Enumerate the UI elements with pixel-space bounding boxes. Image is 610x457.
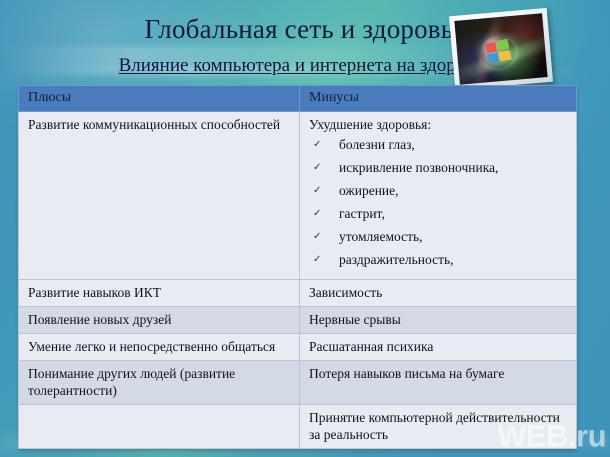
- presentation-slide: Глобальная сеть и здоровье Влияние компь…: [0, 0, 610, 457]
- cell-pros: Развитие навыков ИКТ: [19, 280, 300, 307]
- check-icon: ✓: [313, 229, 321, 245]
- pros-cons-table-container: Плюсы Минусы Развитие коммуникационных с…: [18, 85, 576, 449]
- pros-cons-table: Плюсы Минусы Развитие коммуникационных с…: [18, 85, 577, 449]
- list-item-label: болезни глаз,: [339, 137, 415, 152]
- check-icon: ✓: [313, 206, 321, 222]
- list-item-label: утомляемость,: [339, 229, 423, 244]
- cell-cons: Расшатанная психика: [300, 334, 577, 361]
- cell-pros: Появление новых друзей: [19, 307, 300, 334]
- check-icon: ✓: [313, 160, 321, 176]
- slide-subtitle: Влияние компьютера и интернета на здоров…: [119, 54, 492, 78]
- windows-flag-icon: [486, 39, 512, 63]
- check-icon: ✓: [313, 137, 321, 153]
- table-row: Развитие коммуникационных способностей У…: [19, 112, 577, 280]
- cell-cons: Принятие компьютерной действительности з…: [300, 405, 577, 449]
- cell-cons: Нервные срывы: [300, 307, 577, 334]
- list-item-label: гастрит,: [339, 206, 385, 221]
- table-row: Развитие навыков ИКТ Зависимость: [19, 280, 577, 307]
- cons-checklist: ✓ болезни глаз, ✓ искривление позвоночни…: [309, 136, 567, 268]
- list-item: ✓ раздражительность,: [309, 251, 567, 268]
- column-header-pros: Плюсы: [19, 86, 300, 112]
- table-row: Умение легко и непосредственно общаться …: [19, 334, 577, 361]
- list-item-label: искривление позвоночника,: [339, 160, 498, 175]
- cell-pros: Развитие коммуникационных способностей: [19, 112, 300, 280]
- cell-cons: Зависимость: [300, 280, 577, 307]
- table-row: Появление новых друзей Нервные срывы: [19, 307, 577, 334]
- table-body: Развитие коммуникационных способностей У…: [19, 112, 577, 449]
- cell-pros: Умение легко и непосредственно общаться: [19, 334, 300, 361]
- table-row: Принятие компьютерной действительности з…: [19, 405, 577, 449]
- check-icon: ✓: [313, 183, 321, 199]
- cell-pros: Понимание других людей (развитие толеран…: [19, 361, 300, 405]
- cell-pros: [19, 405, 300, 449]
- windows-vista-logo-photo: [449, 8, 553, 90]
- photo-frame: [449, 8, 553, 90]
- list-item-label: ожирение,: [339, 183, 399, 198]
- list-item: ✓ ожирение,: [309, 182, 567, 199]
- list-item: ✓ искривление позвоночника,: [309, 159, 567, 176]
- check-icon: ✓: [313, 252, 321, 268]
- column-header-cons: Минусы: [300, 86, 577, 112]
- photo-image: [454, 13, 547, 84]
- list-item: ✓ болезни глаз,: [309, 136, 567, 153]
- list-item-label: раздражительность,: [339, 252, 454, 267]
- table-header-row: Плюсы Минусы: [19, 86, 577, 112]
- list-item: ✓ утомляемость,: [309, 228, 567, 245]
- table-header: Плюсы Минусы: [19, 86, 577, 112]
- list-item: ✓ гастрит,: [309, 205, 567, 222]
- table-row: Понимание других людей (развитие толеран…: [19, 361, 577, 405]
- cell-cons: Потеря навыков письма на бумаге: [300, 361, 577, 405]
- cons-list-heading: Ухудшение здоровья:: [309, 116, 567, 133]
- cell-cons: Ухудшение здоровья: ✓ болезни глаз, ✓ ис…: [300, 112, 577, 280]
